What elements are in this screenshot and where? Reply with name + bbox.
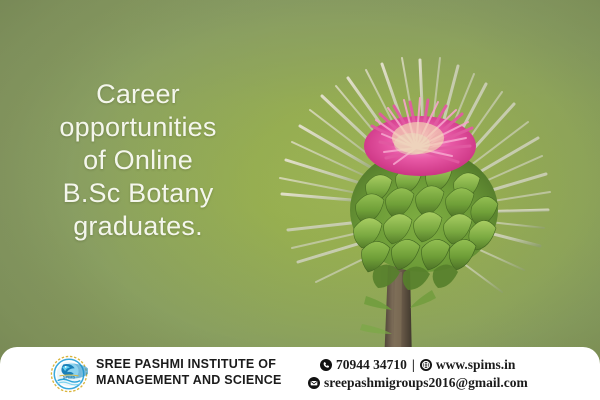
- headline-line-3: of Online: [22, 144, 254, 177]
- thistle-flower-image: [262, 34, 552, 364]
- email-address[interactable]: sreepashmigroups2016@gmail.com: [324, 374, 528, 392]
- svg-text:SPIMS: SPIMS: [63, 374, 76, 379]
- phone-icon: [320, 359, 332, 371]
- headline-line-4: B.Sc Botany: [22, 177, 254, 210]
- sree-pashmi-logo: SPIMS: [50, 355, 88, 393]
- headline-line-2: opportunities: [22, 111, 254, 144]
- footer-bar: SPIMS SREE PASHMI INSTITUTE OF MANAGEMEN…: [0, 347, 600, 400]
- website-url[interactable]: www.spims.in: [436, 356, 516, 374]
- headline-line-1: Career: [22, 78, 254, 111]
- contact-row-email: sreepashmigroups2016@gmail.com: [308, 374, 528, 392]
- institute-name-line-2: MANAGEMENT AND SCIENCE: [96, 372, 282, 388]
- headline-text: Career opportunities of Online B.Sc Bota…: [22, 78, 254, 243]
- poster-canvas: Career opportunities of Online B.Sc Bota…: [0, 0, 600, 400]
- phone-number[interactable]: 70944 34710: [336, 356, 407, 374]
- contact-row-primary: 70944 34710 | www.spims.in: [320, 356, 528, 374]
- contact-block: 70944 34710 | www.spims.in: [320, 356, 528, 392]
- envelope-icon: [308, 377, 320, 389]
- institute-name-line-1: SREE PASHMI INSTITUTE OF: [96, 356, 282, 372]
- globe-icon: [420, 359, 432, 371]
- headline-line-5: graduates.: [22, 210, 254, 243]
- contact-separator: |: [412, 356, 415, 374]
- institute-name: SREE PASHMI INSTITUTE OF MANAGEMENT AND …: [96, 356, 282, 388]
